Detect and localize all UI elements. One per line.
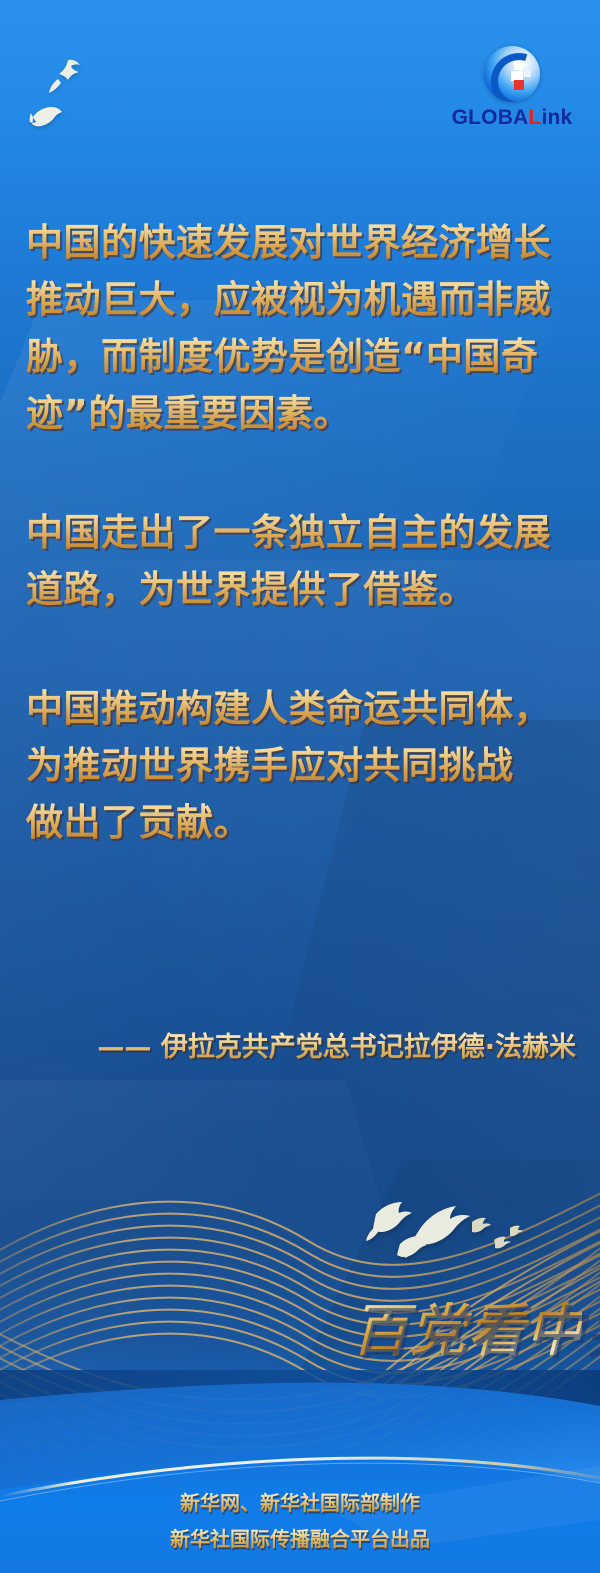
globe-logo-icon: [484, 46, 540, 102]
footer-line: 新华社国际传播融合平台出品 新华社国际传播融合平台出品: [0, 1524, 600, 1554]
globalink-brand[interactable]: GLOBALink: [446, 46, 578, 128]
calligraphy-logo: 百党看中共 百党看中共: [352, 1288, 582, 1374]
footer-line: 新华网、新华社国际部制作 新华网、新华社国际部制作: [0, 1488, 600, 1518]
attribution-text: —— 伊拉克共产党总书记拉伊德·法赫米: [97, 1028, 576, 1068]
footer-line-1: 新华网、新华社国际部制作: [0, 1488, 600, 1518]
quote-line: 推动巨大，应被视为机遇而非威 推动巨大，应被视为机遇而非威: [26, 271, 578, 328]
attribution: —— 伊拉克共产党总书记拉伊德·法赫米 —— 伊拉克共产党总书记拉伊德·法赫米: [97, 1028, 576, 1068]
wordmark-main: GLOBA: [452, 106, 529, 129]
dove-icon: [44, 58, 90, 100]
quote-line: 为推动世界携手应对共同挑战 为推动世界携手应对共同挑战: [26, 737, 578, 794]
quote-line: 中国推动构建人类命运共同体， 中国推动构建人类命运共同体，: [26, 680, 578, 737]
quote-line: 胁，而制度优势是创造“中国奇 胁，而制度优势是创造“中国奇: [26, 328, 578, 385]
dove-flock-icon: [366, 1192, 536, 1272]
wordmark-tail: ink: [541, 106, 572, 129]
dove-icon: [28, 104, 64, 130]
quote-paragraph: 中国走出了一条独立自主的发展 中国走出了一条独立自主的发展 道路，为世界提供了借…: [26, 504, 578, 618]
quote-line: 道路，为世界提供了借鉴。 道路，为世界提供了借鉴。: [26, 561, 578, 618]
quote-line: 中国走出了一条独立自主的发展 中国走出了一条独立自主的发展: [26, 504, 578, 561]
footer: 新华网、新华社国际部制作 新华网、新华社国际部制作 新华社国际传播融合平台出品 …: [0, 1488, 600, 1554]
quote-line: 迹”的最重要因素。 迹”的最重要因素。: [26, 385, 578, 442]
quote-block: 中国的快速发展对世界经济增长 中国的快速发展对世界经济增长 推动巨大，应被视为机…: [26, 214, 578, 851]
globalink-wordmark: GLOBALink: [446, 107, 578, 128]
footer-line-2: 新华社国际传播融合平台出品: [0, 1524, 600, 1554]
quote-line: 做出了贡献。 做出了贡献。: [26, 794, 578, 851]
quote-paragraph: 中国的快速发展对世界经济增长 中国的快速发展对世界经济增长 推动巨大，应被视为机…: [26, 214, 578, 442]
wordmark-accent: L: [528, 106, 541, 129]
quote-paragraph: 中国推动构建人类命运共同体， 中国推动构建人类命运共同体， 为推动世界携手应对共…: [26, 680, 578, 851]
poster-root: GLOBALink 中国的快速发展对世界经济增长 中国的快速发展对世界经济增长 …: [0, 0, 600, 1573]
quote-line: 中国的快速发展对世界经济增长 中国的快速发展对世界经济增长: [26, 214, 578, 271]
